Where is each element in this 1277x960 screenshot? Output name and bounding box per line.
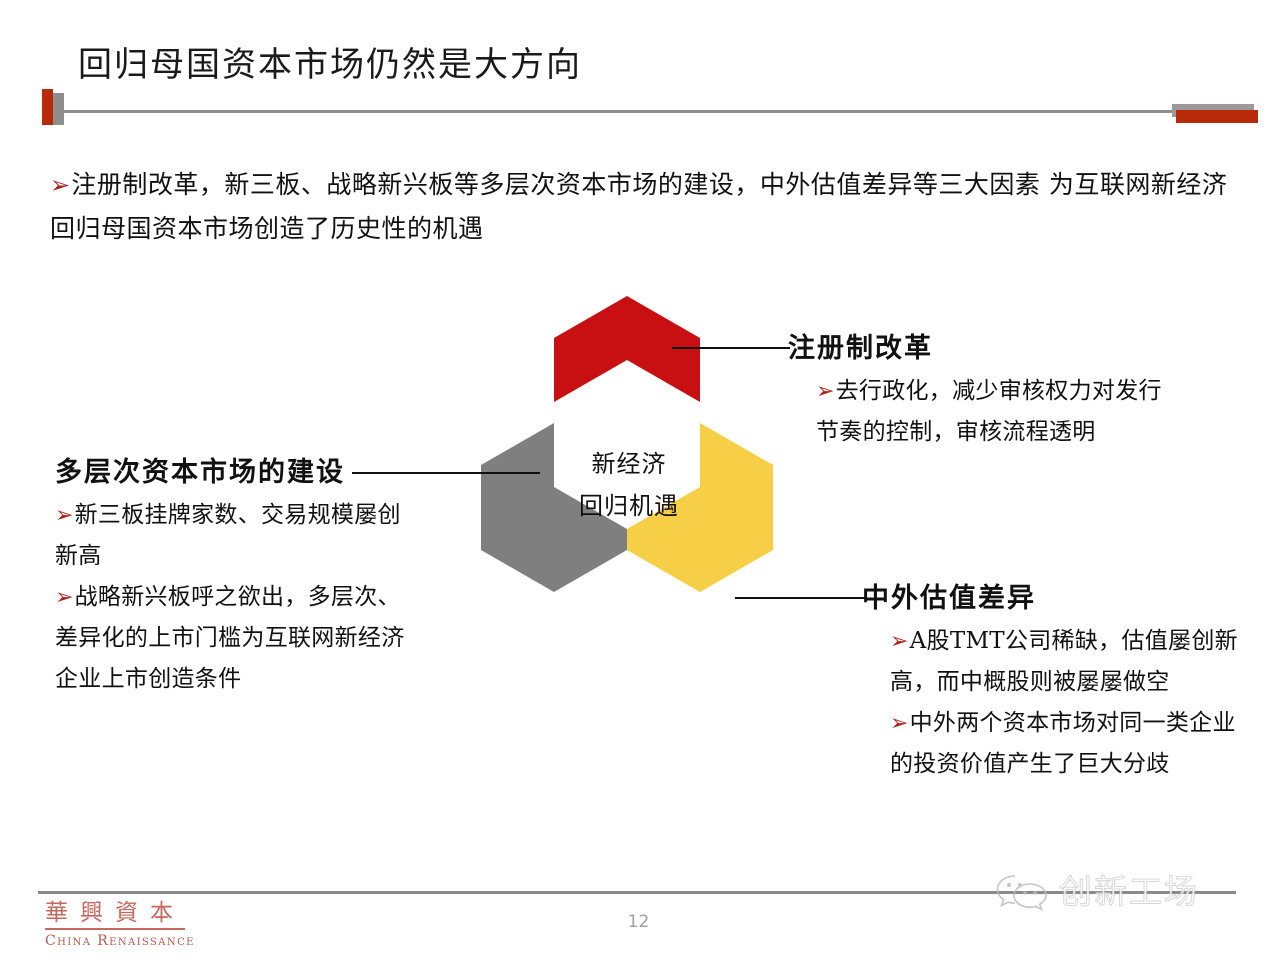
list-item-text: 去行政化，减少审核权力对发行 xyxy=(836,378,1162,404)
page-number: 12 xyxy=(0,912,1277,932)
list-item: 高，而中概股则被屡屡做空 xyxy=(890,662,1252,703)
callout-valuation-gap: 中外估值差异 ➢A股TMT公司稀缺，估值屡创新 高，而中概股则被屡屡做空 ➢中外… xyxy=(862,576,1252,785)
header-divider-rule xyxy=(62,110,1180,113)
bullet-arrow-icon: ➢ xyxy=(816,379,835,404)
callout-list-multi-tier-market: ➢新三板挂牌家数、交易规模屡创 新高 ➢战略新兴板呼之欲出，多层次、 差异化的上… xyxy=(55,495,475,700)
list-item-text: 的投资价值产生了巨大分歧 xyxy=(890,751,1170,777)
list-item-text: 节奏的控制，审核流程透明 xyxy=(816,419,1096,445)
callout-multi-tier-market: 多层次资本市场的建设 ➢新三板挂牌家数、交易规模屡创 新高 ➢战略新兴板呼之欲出… xyxy=(55,450,475,700)
lead-paragraph-line-1: 注册制改革，新三板、战略新兴板等多层次资本市场的建设，中外估值差异等三大因素 xyxy=(71,170,1040,199)
list-item-text: 中外两个资本市场对同一类企业 xyxy=(910,710,1236,736)
slide-canvas: 回归母国资本市场仍然是大方向 ➢注册制改革，新三板、战略新兴板等多层次资本市场的… xyxy=(0,0,1277,960)
bullet-arrow-icon: ➢ xyxy=(890,629,909,654)
page-title: 回归母国资本市场仍然是大方向 xyxy=(78,43,582,87)
hexagon-center-label-line-1: 新经济 xyxy=(554,443,704,485)
list-item: 差异化的上市门槛为互联网新经济 xyxy=(55,618,475,659)
list-item-text: A股TMT公司稀缺，估值屡创新 xyxy=(910,628,1238,654)
bullet-arrow-icon: ➢ xyxy=(50,171,70,199)
list-item-text: 高，而中概股则被屡屡做空 xyxy=(890,669,1170,695)
list-item: 新高 xyxy=(55,536,475,577)
list-item-text: 企业上市创造条件 xyxy=(55,666,241,692)
list-item: ➢新三板挂牌家数、交易规模屡创 xyxy=(55,495,475,536)
callout-registration-reform: 注册制改革 ➢去行政化，减少审核权力对发行 节奏的控制，审核流程透明 xyxy=(788,326,1208,453)
hexagon-center-label-line-2: 回归机遇 xyxy=(554,485,704,527)
callout-heading-multi-tier-market: 多层次资本市场的建设 xyxy=(55,450,475,489)
list-item: 的投资价值产生了巨大分歧 xyxy=(890,744,1252,785)
header-accent-gray-bar xyxy=(53,93,64,125)
list-item: ➢去行政化，减少审核权力对发行 xyxy=(816,371,1208,412)
leader-line-to-valuation-gap xyxy=(735,597,865,599)
callout-list-registration-reform: ➢去行政化，减少审核权力对发行 节奏的控制，审核流程透明 xyxy=(788,371,1208,453)
lead-paragraph: ➢注册制改革，新三板、战略新兴板等多层次资本市场的建设，中外估值差异等三大因素 … xyxy=(50,163,1240,250)
list-item: ➢中外两个资本市场对同一类企业 xyxy=(890,703,1252,744)
hexagon-center-label: 新经济 回归机遇 xyxy=(554,443,704,527)
wechat-icon xyxy=(995,872,1053,912)
callout-list-valuation-gap: ➢A股TMT公司稀缺，估值屡创新 高，而中概股则被屡屡做空 ➢中外两个资本市场对… xyxy=(862,621,1252,785)
list-item-text: 新高 xyxy=(55,543,102,569)
list-item: ➢A股TMT公司稀缺，估值屡创新 xyxy=(890,621,1252,662)
callout-heading-valuation-gap: 中外估值差异 xyxy=(862,576,1252,615)
callout-heading-registration-reform: 注册制改革 xyxy=(788,326,1208,365)
leader-line-to-registration-reform xyxy=(672,347,790,349)
bullet-arrow-icon: ➢ xyxy=(890,711,909,736)
company-logo-english: China Renaissance xyxy=(45,933,195,949)
header-accent-red-bar xyxy=(42,89,53,125)
watermark: 创新工场 xyxy=(995,872,1199,912)
list-item-text: 新三板挂牌家数、交易规模屡创 xyxy=(75,502,401,528)
list-item-text: 战略新兴板呼之欲出，多层次、 xyxy=(75,584,401,610)
list-item: 节奏的控制，审核流程透明 xyxy=(816,412,1208,453)
watermark-text: 创新工场 xyxy=(1059,873,1199,911)
list-item: 企业上市创造条件 xyxy=(55,659,475,700)
list-item-text: 差异化的上市门槛为互联网新经济 xyxy=(55,625,405,651)
bullet-arrow-icon: ➢ xyxy=(55,503,74,528)
list-item: ➢战略新兴板呼之欲出，多层次、 xyxy=(55,577,475,618)
header-right-red-block xyxy=(1176,110,1258,123)
bullet-arrow-icon: ➢ xyxy=(55,585,74,610)
